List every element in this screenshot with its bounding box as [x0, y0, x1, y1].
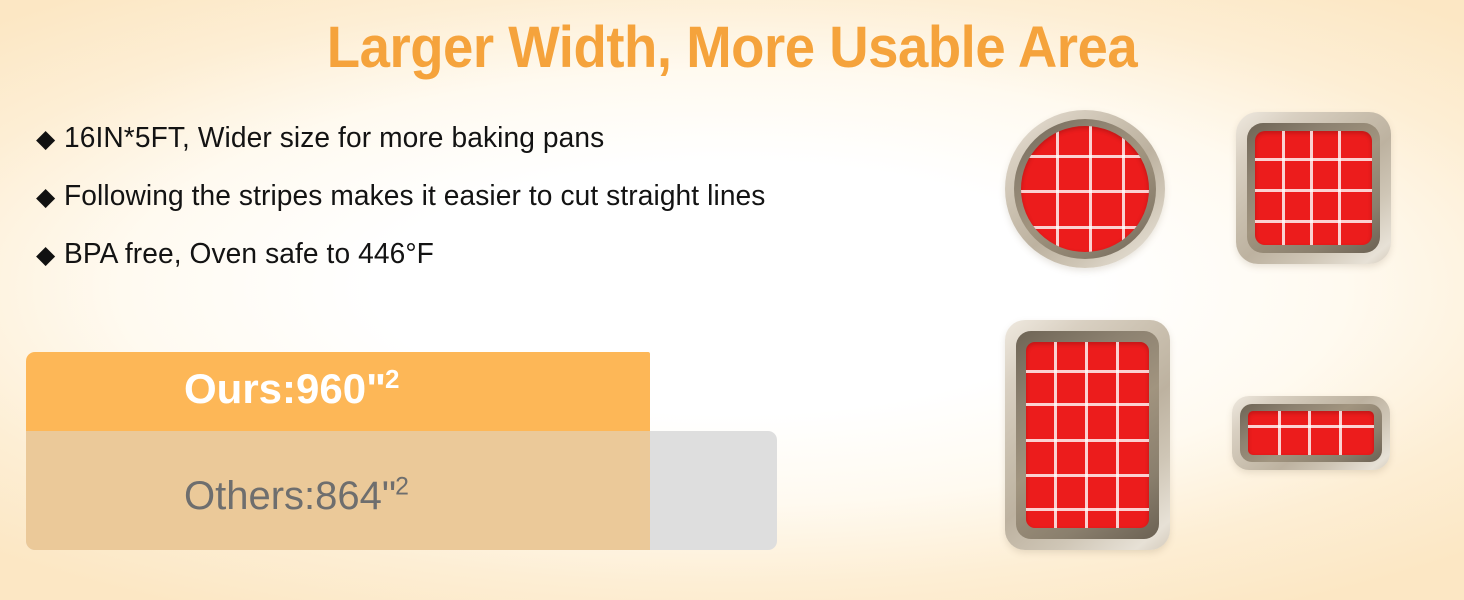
round-cake-pan-image [1005, 110, 1165, 268]
list-item: ◆ 16IN*5FT, Wider size for more baking p… [36, 122, 936, 155]
pan-liner-grid [1021, 126, 1149, 252]
list-item-label: 16IN*5FT, Wider size for more baking pan… [64, 122, 604, 155]
ours-bar-inch-mark: " [366, 365, 385, 412]
pan-liner-grid [1026, 342, 1149, 528]
others-bar: Others:864"2 [26, 431, 650, 550]
others-bar-exponent: 2 [395, 474, 409, 501]
comparison-bar-chart: Ours:960"2 Others:864"2 [26, 352, 777, 550]
large-rectangular-baking-pan-image [1005, 320, 1170, 550]
ours-bar-exponent: 2 [385, 364, 399, 394]
ours-bar: Ours:960"2 [26, 352, 650, 431]
page-title: Larger Width, More Usable Area [44, 14, 1420, 81]
feature-list: ◆ 16IN*5FT, Wider size for more baking p… [36, 122, 936, 296]
square-cake-pan-image [1236, 112, 1391, 264]
others-bar-value: 864 [315, 474, 382, 518]
pan-liner-grid [1248, 411, 1374, 455]
list-item: ◆ BPA free, Oven safe to 446°F [36, 238, 936, 271]
ours-bar-prefix: Ours: [184, 365, 296, 412]
ours-bar-value: 960 [296, 365, 366, 412]
infographic-banner: Larger Width, More Usable Area ◆ 16IN*5F… [0, 0, 1464, 600]
list-item-label: BPA free, Oven safe to 446°F [64, 238, 434, 271]
diamond-bullet-icon: ◆ [36, 127, 55, 152]
others-bar-inch-mark: " [382, 474, 395, 518]
others-bar-label: Others:864"2 [26, 474, 409, 519]
diamond-bullet-icon: ◆ [36, 243, 55, 268]
list-item-label: Following the stripes makes it easier to… [64, 180, 765, 213]
ours-bar-label: Ours:960"2 [26, 365, 400, 413]
small-loaf-pan-image [1232, 396, 1390, 470]
others-bar-prefix: Others: [184, 474, 315, 518]
pan-liner-grid [1255, 131, 1372, 245]
list-item: ◆ Following the stripes makes it easier … [36, 180, 936, 213]
diamond-bullet-icon: ◆ [36, 185, 55, 210]
